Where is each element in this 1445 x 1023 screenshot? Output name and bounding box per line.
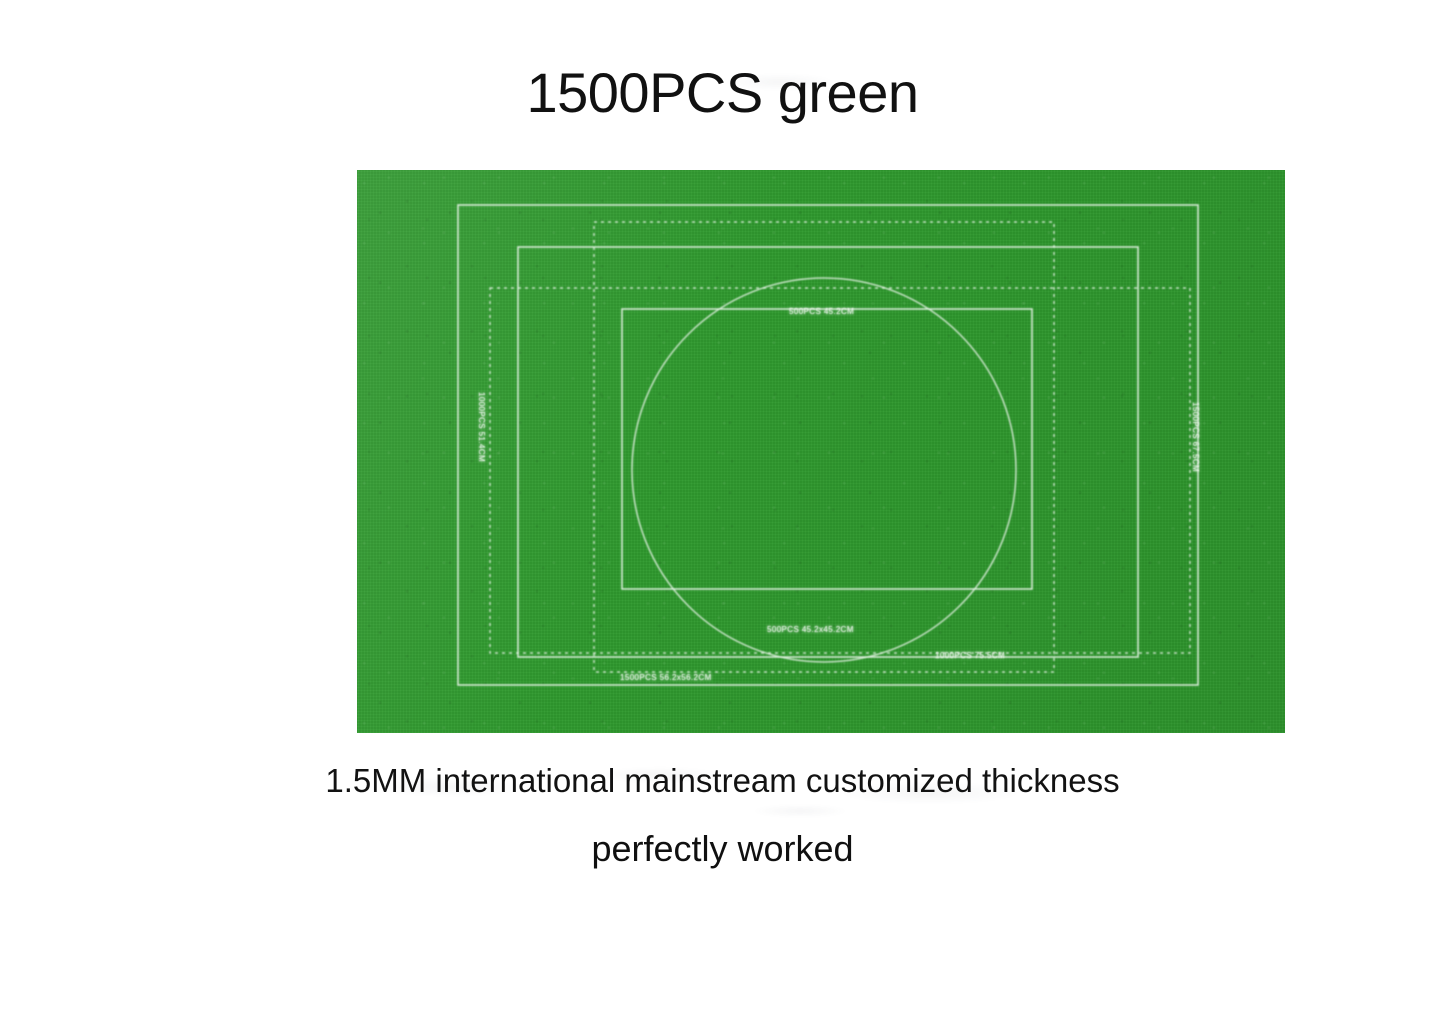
page-title: 1500PCS green xyxy=(0,60,1445,126)
mat-surface xyxy=(357,170,1285,733)
caption-line-2: perfectly worked xyxy=(0,826,1445,872)
caption-line-1: 1.5MM international mainstream customize… xyxy=(0,760,1445,802)
puzzle-mat-photo: 500PCS 45.2CM 500PCS 45.2x45.2CM 1000PCS… xyxy=(357,170,1285,733)
